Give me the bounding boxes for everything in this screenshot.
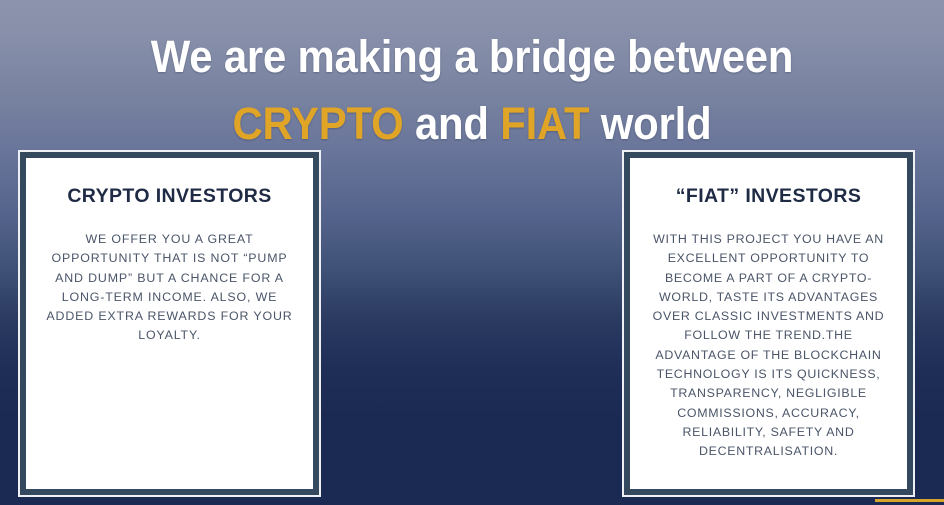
card-fiat-investors: “FIAT” INVESTORS With this project you h… <box>622 150 915 497</box>
headline-line-2: CRYPTO and FIAT world <box>33 90 911 157</box>
page-root: We are making a bridge between CRYPTO an… <box>0 0 944 505</box>
card-fiat-investors-title: “FIAT” INVESTORS <box>644 184 893 208</box>
card-fiat-investors-body: With this project you have an excellent … <box>644 230 893 462</box>
card-crypto-investors-body: We offer you a great opportunity that is… <box>40 230 299 346</box>
headline-world-word: world <box>589 98 711 149</box>
card-crypto-investors: CRYPTO INVESTORS We offer you a great op… <box>18 150 321 497</box>
card-fiat-investors-inner: “FIAT” INVESTORS With this project you h… <box>624 152 913 495</box>
headline-fiat-word: FIAT <box>500 98 589 149</box>
card-crypto-investors-inner: CRYPTO INVESTORS We offer you a great op… <box>20 152 319 495</box>
headline-and-word: and <box>403 98 500 149</box>
headline-line-1: We are making a bridge between <box>33 23 911 90</box>
card-crypto-investors-title: CRYPTO INVESTORS <box>40 184 299 208</box>
page-title: We are making a bridge between CRYPTO an… <box>33 23 911 157</box>
headline-crypto-word: CRYPTO <box>233 98 404 149</box>
bottom-strip <box>0 501 944 505</box>
